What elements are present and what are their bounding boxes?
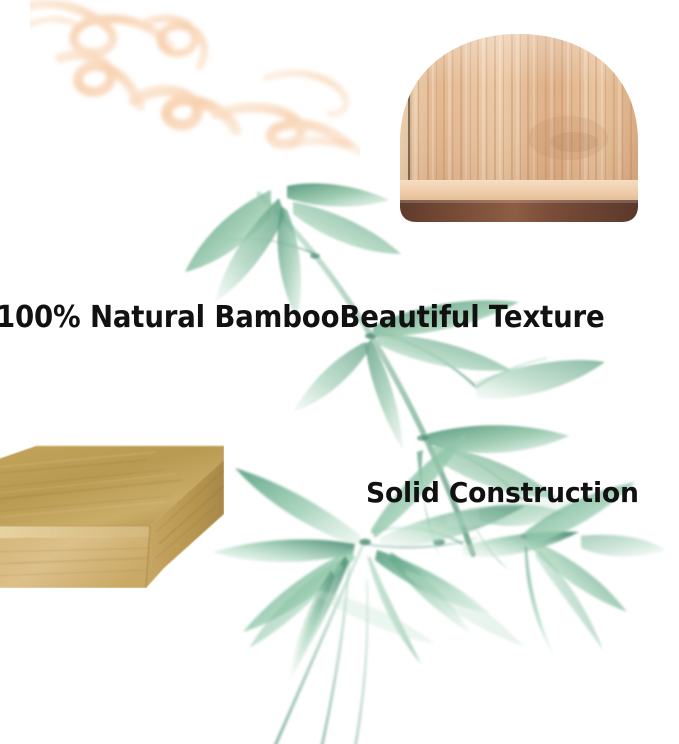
caption-line-one: 100% Natural BambooBeautiful Texture xyxy=(0,303,605,333)
caption-natural-bamboo: 100% Natural Bamboo xyxy=(0,300,339,335)
solid-bamboo-block xyxy=(0,440,224,588)
product-feature-graphic: 100% Natural BambooBeautiful Texture Sol… xyxy=(0,0,679,744)
cloud-swirl-graphic xyxy=(30,0,360,169)
bamboo-leaves-lower xyxy=(195,420,665,744)
bamboo-plank-swatch xyxy=(396,30,642,250)
caption-beautiful-texture: Beautiful Texture xyxy=(339,300,604,335)
caption-solid-construction: Solid Construction xyxy=(366,479,639,507)
